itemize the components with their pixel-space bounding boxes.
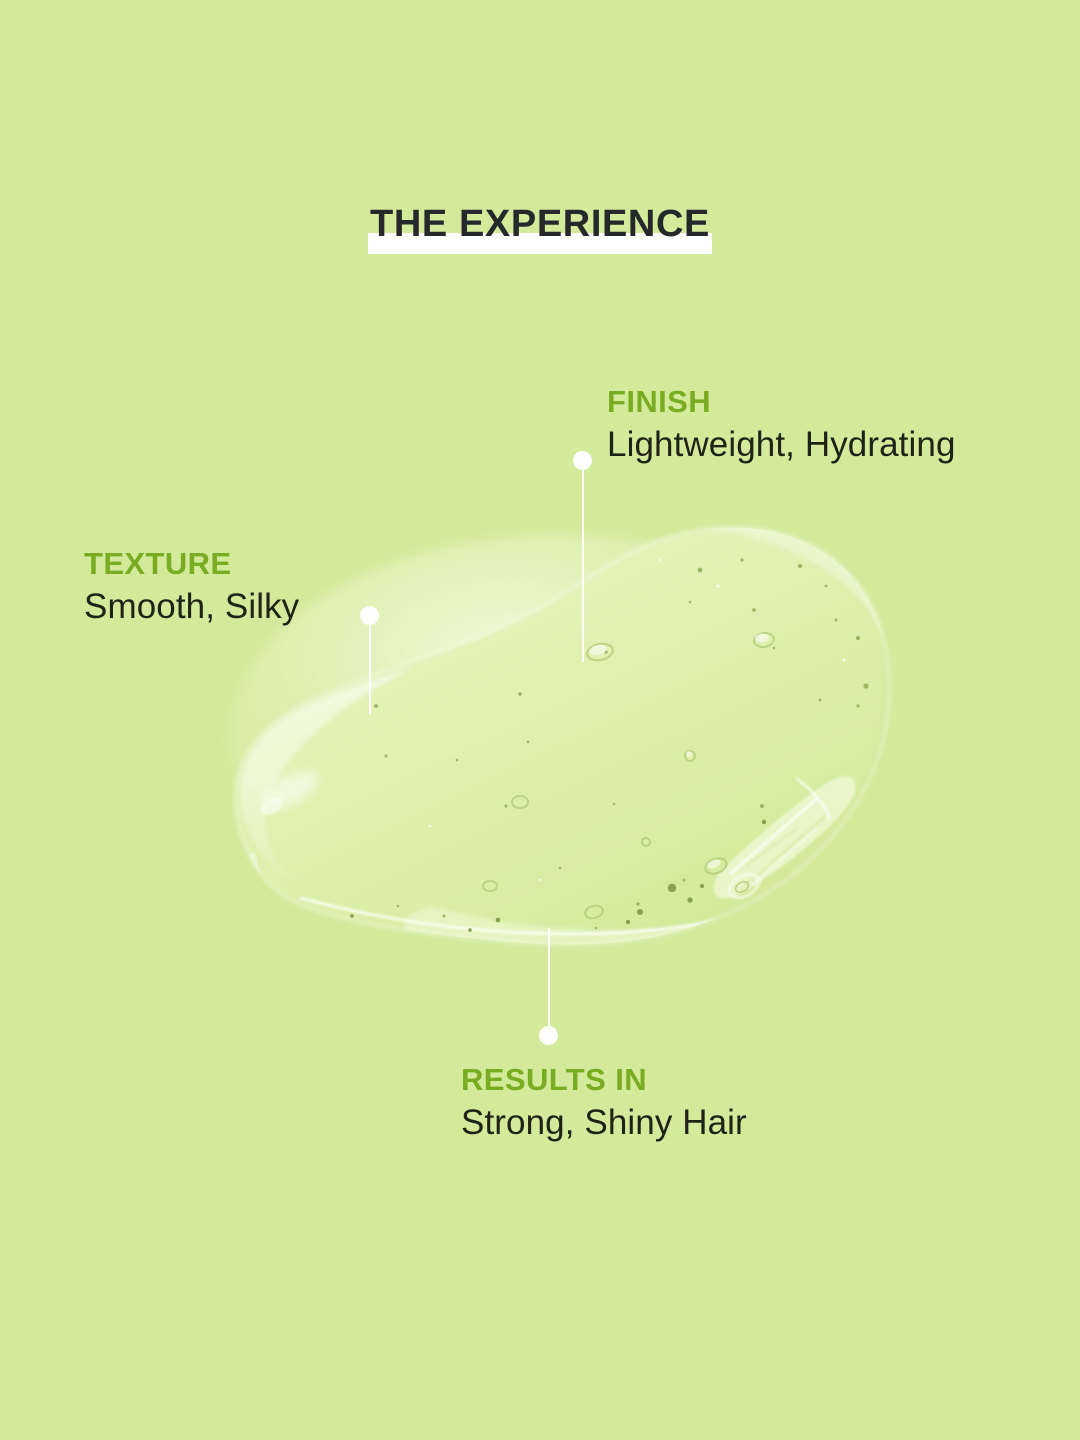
- poster-canvas: THE EXPERIENCE FINISH Lightweight, Hydra…: [0, 0, 1080, 1440]
- callout-results-label: RESULTS IN: [461, 1060, 747, 1100]
- callout-texture: TEXTURE Smooth, Silky: [84, 544, 299, 630]
- callout-finish: FINISH Lightweight, Hydrating: [607, 382, 956, 468]
- callout-texture-value: Smooth, Silky: [84, 584, 299, 630]
- leader-line-finish: [582, 466, 584, 662]
- callout-finish-label: FINISH: [607, 382, 956, 422]
- leader-line-texture: [369, 621, 371, 714]
- leader-dot-results: [539, 1026, 558, 1045]
- page-title: THE EXPERIENCE: [0, 196, 1080, 252]
- callout-texture-label: TEXTURE: [84, 544, 299, 584]
- leader-dot-texture: [360, 606, 379, 625]
- callout-results: RESULTS IN Strong, Shiny Hair: [461, 1060, 747, 1146]
- callout-finish-value: Lightweight, Hydrating: [607, 422, 956, 468]
- leader-dot-finish: [573, 451, 592, 470]
- callout-results-value: Strong, Shiny Hair: [461, 1100, 747, 1146]
- leader-line-results: [548, 928, 550, 1038]
- title-text: THE EXPERIENCE: [370, 203, 710, 245]
